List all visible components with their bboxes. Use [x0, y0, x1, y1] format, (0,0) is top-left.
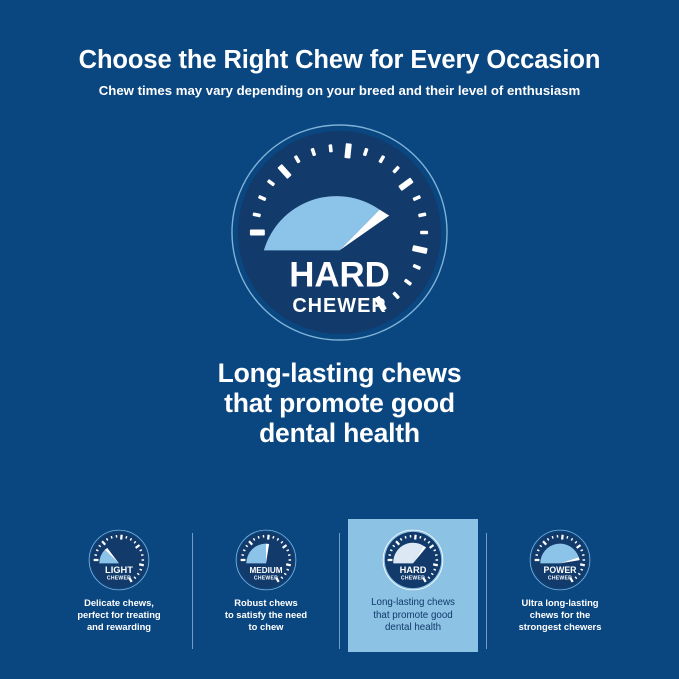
chew-level-card-medium[interactable]: MEDIUM CHEWER Robust chews to satisfy th…	[201, 519, 331, 652]
hard-caption-line-3: dental health	[371, 622, 455, 635]
hero-badge-graphic: HARD CHEWER	[230, 123, 449, 342]
medium-caption: Robust chews to satisfy the need to chew	[221, 597, 311, 633]
power-caption-line-2: chews for the	[519, 609, 602, 621]
light-chewer-label: CHEWER	[107, 576, 131, 582]
card-divider-1	[192, 533, 193, 649]
header: Choose the Right Chew for Every Occasion…	[0, 46, 679, 99]
card-divider-2	[339, 533, 340, 649]
light-caption: Delicate chews, perfect for treating and…	[73, 597, 164, 633]
hero-tagline-line-2: that promote good	[218, 388, 462, 418]
page-title: Choose the Right Chew for Every Occasion	[0, 46, 679, 74]
hard-chewer-label: CHEWER	[401, 576, 425, 582]
power-level-label: POWER	[544, 565, 578, 575]
hero-badge: HARD CHEWER	[230, 123, 449, 342]
hard-caption-line-1: Long-lasting chews	[371, 597, 455, 610]
power-badge-graphic: POWER CHEWER	[529, 529, 591, 591]
chew-level-card-light[interactable]: LIGHT CHEWER Delicate chews, perfect for…	[54, 519, 184, 652]
light-badge-graphic: LIGHT CHEWER	[88, 529, 150, 591]
medium-caption-line-2: to satisfy the need	[225, 609, 307, 621]
medium-caption-line-1: Robust chews	[225, 597, 307, 609]
hard-badge-graphic: HARD CHEWER	[382, 529, 444, 591]
power-chewer-label: CHEWER	[548, 576, 572, 582]
infographic-root: Choose the Right Chew for Every Occasion…	[0, 0, 679, 679]
hero-chewer-label: CHEWER	[292, 295, 386, 317]
chew-level-card-power[interactable]: POWER CHEWER Ultra long-lasting chews fo…	[495, 519, 625, 652]
chew-level-row: LIGHT CHEWER Delicate chews, perfect for…	[0, 519, 679, 659]
chew-level-card-hard[interactable]: HARD CHEWER Long-lasting chews that prom…	[348, 519, 478, 652]
page-subtitle: Chew times may vary depending on your br…	[0, 83, 679, 99]
hero-tagline-line-3: dental health	[218, 418, 462, 448]
hero-level-label: HARD	[289, 255, 390, 294]
light-level-label: LIGHT	[105, 565, 133, 575]
card-divider-3	[486, 533, 487, 649]
light-caption-line-1: Delicate chews,	[77, 597, 160, 609]
hero-tagline: Long-lasting chews that promote good den…	[218, 358, 462, 449]
medium-caption-line-3: to chew	[225, 621, 307, 633]
medium-level-label: MEDIUM	[249, 566, 282, 575]
hard-caption: Long-lasting chews that promote good den…	[367, 597, 459, 635]
power-caption-line-1: Ultra long-lasting	[519, 597, 602, 609]
hard-level-label: HARD	[400, 565, 427, 575]
light-caption-line-3: and rewarding	[77, 621, 160, 633]
hard-caption-line-2: that promote good	[371, 610, 455, 623]
light-caption-line-2: perfect for treating	[77, 609, 160, 621]
power-caption: Ultra long-lasting chews for the stronge…	[515, 597, 606, 633]
medium-badge-graphic: MEDIUM CHEWER	[235, 529, 297, 591]
hero-tagline-line-1: Long-lasting chews	[218, 358, 462, 388]
medium-chewer-label: CHEWER	[254, 576, 278, 582]
power-caption-line-3: strongest chewers	[519, 621, 602, 633]
